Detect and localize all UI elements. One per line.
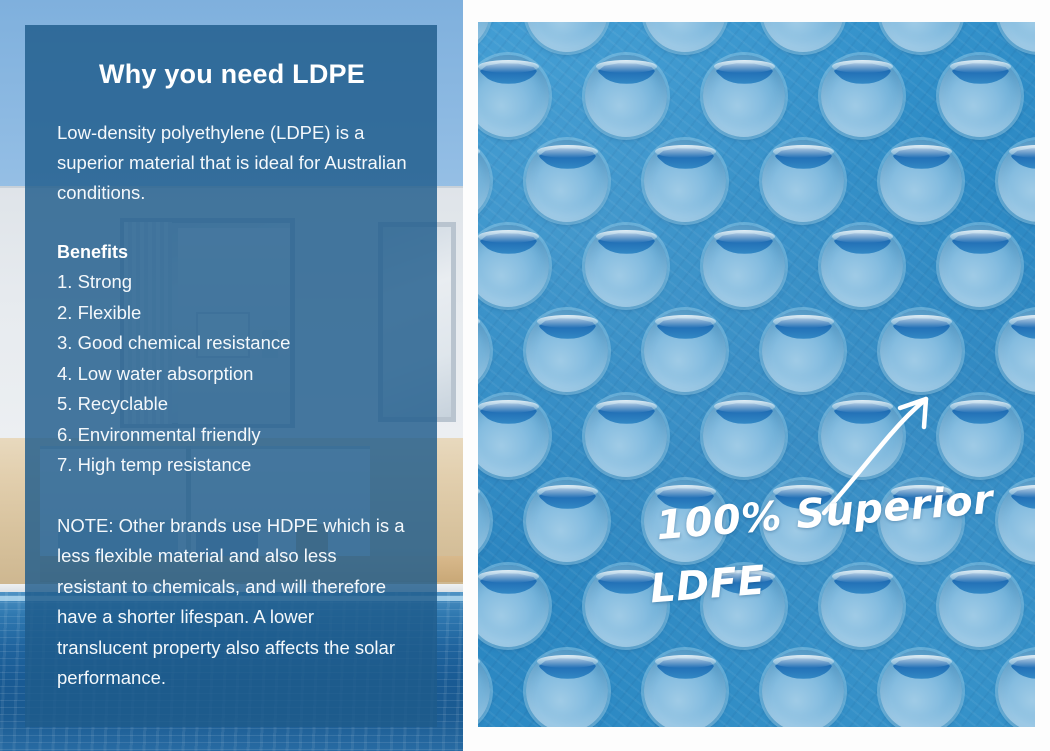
list-item: 7. High temp resistance bbox=[57, 450, 407, 481]
bubble bbox=[939, 55, 1021, 137]
bubble bbox=[880, 650, 962, 727]
benefits-heading: Benefits bbox=[57, 242, 407, 263]
bubble-gloss bbox=[596, 230, 657, 243]
bubble bbox=[821, 225, 903, 307]
list-item: 2. Flexible bbox=[57, 298, 407, 329]
list-item: 4. Low water absorption bbox=[57, 359, 407, 390]
bubble bbox=[585, 55, 667, 137]
list-item: 6. Environmental friendly bbox=[57, 420, 407, 451]
bubble-gloss bbox=[478, 570, 539, 583]
bubble bbox=[526, 140, 608, 222]
bubble-gloss bbox=[891, 315, 952, 328]
list-item: 1. Strong bbox=[57, 267, 407, 298]
bubble bbox=[703, 55, 785, 137]
page-title: Why you need LDPE bbox=[57, 59, 407, 90]
bubble-gloss bbox=[832, 60, 893, 73]
bubble bbox=[585, 395, 667, 477]
bubble-gloss bbox=[832, 230, 893, 243]
bubble-gloss bbox=[832, 570, 893, 583]
bubble bbox=[703, 225, 785, 307]
bubble bbox=[821, 55, 903, 137]
annotation-line-2: LDFE bbox=[648, 558, 767, 613]
bubble bbox=[762, 140, 844, 222]
benefits-list: 1. Strong 2. Flexible 3. Good chemical r… bbox=[57, 267, 407, 481]
bubble-gloss bbox=[478, 230, 539, 243]
bubble-gloss bbox=[773, 315, 834, 328]
bubble bbox=[644, 310, 726, 392]
bubble-gloss bbox=[655, 315, 716, 328]
bubble bbox=[526, 480, 608, 562]
infographic-canvas: Why you need LDPE Low-density polyethyle… bbox=[0, 0, 1050, 751]
bubble bbox=[644, 140, 726, 222]
bubble bbox=[644, 650, 726, 727]
bubble-gloss bbox=[773, 145, 834, 158]
bubble-gloss bbox=[537, 315, 598, 328]
bubble-gloss bbox=[478, 60, 539, 73]
bubble-gloss bbox=[714, 60, 775, 73]
bubble-gloss bbox=[773, 655, 834, 668]
bubble-gloss bbox=[478, 400, 539, 413]
bubble bbox=[585, 225, 667, 307]
bubble-gloss bbox=[950, 570, 1011, 583]
list-item: 5. Recyclable bbox=[57, 389, 407, 420]
info-card: Why you need LDPE Low-density polyethyle… bbox=[25, 25, 437, 727]
bubble-gloss bbox=[950, 400, 1011, 413]
bubble bbox=[880, 140, 962, 222]
bubble-gloss bbox=[950, 230, 1011, 243]
bubble-gloss bbox=[596, 60, 657, 73]
bubble-gloss bbox=[537, 485, 598, 498]
bubble bbox=[939, 565, 1021, 647]
bubble-gloss bbox=[596, 400, 657, 413]
note-paragraph: NOTE: Other brands use HDPE which is a l… bbox=[57, 511, 407, 694]
bubble bbox=[526, 650, 608, 727]
bubble-gloss bbox=[655, 145, 716, 158]
bubble bbox=[821, 565, 903, 647]
bubble-gloss bbox=[891, 655, 952, 668]
right-photo-panel: 100% Superior LDFE bbox=[478, 22, 1035, 727]
bubble bbox=[939, 225, 1021, 307]
bubble-gloss bbox=[714, 230, 775, 243]
bubble-gloss bbox=[714, 400, 775, 413]
bubble bbox=[526, 310, 608, 392]
bubble bbox=[762, 650, 844, 727]
bubble-gloss bbox=[891, 145, 952, 158]
bubble-gloss bbox=[655, 485, 716, 498]
bubble-gloss bbox=[537, 655, 598, 668]
left-photo-panel: Why you need LDPE Low-density polyethyle… bbox=[0, 0, 463, 751]
bubble bbox=[703, 395, 785, 477]
bubble-gloss bbox=[537, 145, 598, 158]
list-item: 3. Good chemical resistance bbox=[57, 328, 407, 359]
bubble-gloss bbox=[655, 655, 716, 668]
intro-paragraph: Low-density polyethylene (LDPE) is a sup… bbox=[57, 118, 407, 208]
bubble-gloss bbox=[950, 60, 1011, 73]
bubble bbox=[939, 395, 1021, 477]
